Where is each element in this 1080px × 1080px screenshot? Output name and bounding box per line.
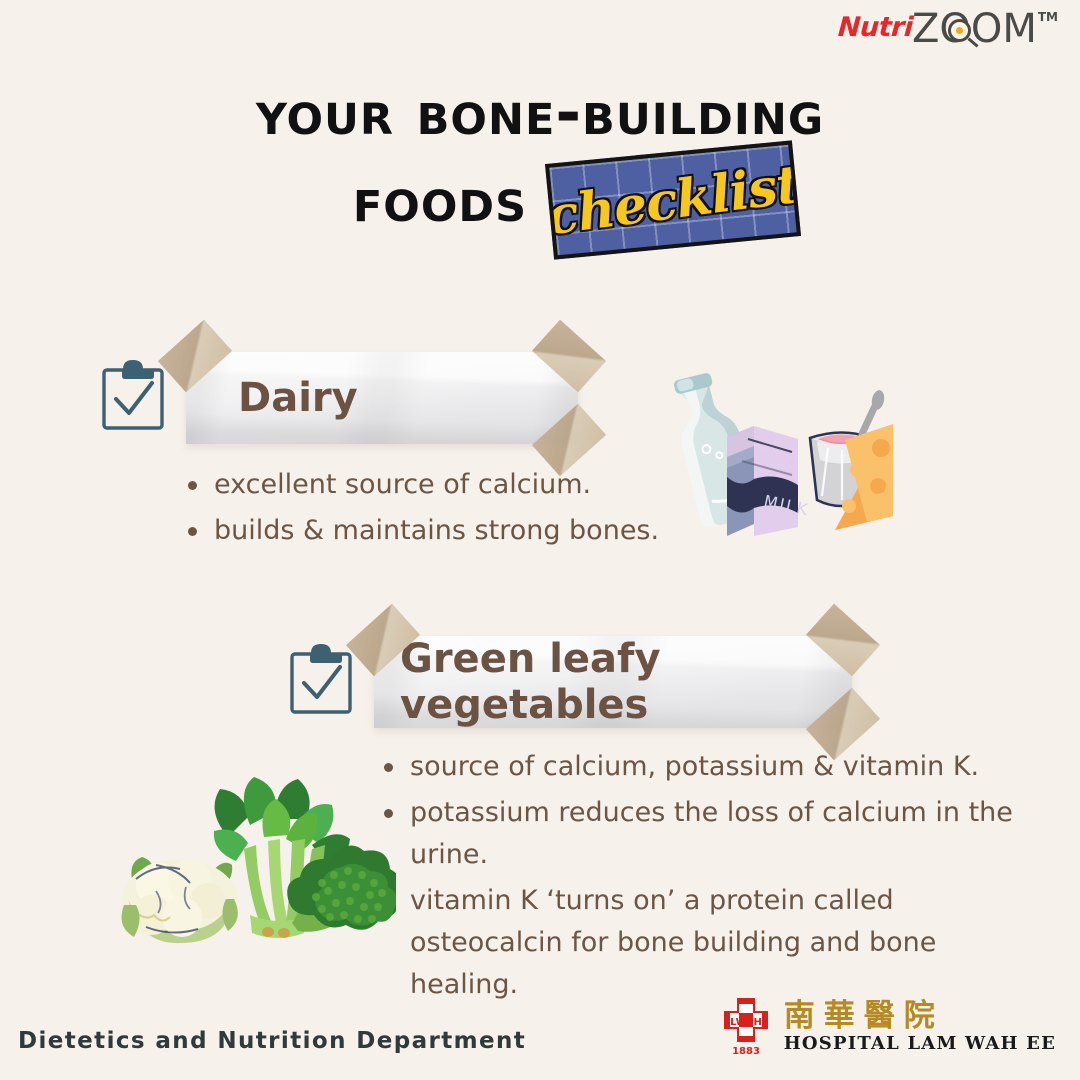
dairy-banner: Dairy <box>186 352 578 444</box>
hospital-name-english: HOSPITAL LAM WAH EE <box>784 1033 1056 1055</box>
cauliflower <box>122 857 238 943</box>
title-line-2-row: FOODS checklist <box>0 152 1080 248</box>
svg-text:1883: 1883 <box>732 1046 760 1057</box>
dairy-banner-row: Dairy <box>96 352 578 444</box>
svg-text:LWEH: LWEH <box>730 1017 762 1028</box>
section-green-leafy-vegetables: Green leafy vegetables source of calcium… <box>284 636 852 728</box>
list-item: excellent source of calcium. <box>184 464 704 506</box>
hospital-logo: LWEH 1883 南華醫院 HOSPITAL LAM WAH EE <box>720 996 1056 1058</box>
infographic-canvas: Nutri ZOOM TM YOUR BONE-BUILDING FOODS c… <box>0 0 1080 1080</box>
green-vegetables-illustration <box>116 775 396 955</box>
vegetables-heading: Green leafy vegetables <box>400 636 852 728</box>
brand-name-nutri: Nutri <box>837 8 915 48</box>
brand-logo: Nutri ZOOM TM <box>838 8 1058 54</box>
vegetables-banner: Green leafy vegetables <box>374 636 852 728</box>
dairy-heading: Dairy <box>238 375 358 421</box>
dairy-foods-illustration: MILK <box>650 360 900 545</box>
red-cross-icon: LWEH 1883 <box>720 996 772 1058</box>
hospital-name-chinese: 南華醫院 <box>784 999 1056 1033</box>
dairy-bullet-list: excellent source of calcium. builds & ma… <box>184 464 704 556</box>
trademark-symbol: TM <box>1038 10 1058 24</box>
section-dairy: Dairy excellent source of calcium. build… <box>96 352 578 444</box>
vegetables-banner-row: Green leafy vegetables <box>284 636 852 728</box>
clipboard-check-icon <box>284 640 362 724</box>
page-title: YOUR BONE-BUILDING FOODS checklist <box>0 76 1080 248</box>
magnifier-icon <box>948 19 971 42</box>
footer-department: Dietetics and Nutrition Department <box>18 1028 526 1054</box>
list-item: builds & maintains strong bones. <box>184 510 704 552</box>
vegetables-bullet-list: source of calcium, potassium & vitamin K… <box>380 746 1040 1010</box>
hospital-name-block: 南華醫院 HOSPITAL LAM WAH EE <box>784 999 1056 1055</box>
tape-top-right <box>532 320 606 393</box>
list-item: source of calcium, potassium & vitamin K… <box>380 746 1040 788</box>
title-line-2: FOODS <box>353 163 527 237</box>
clipboard-check-icon <box>96 356 174 440</box>
list-item: potassium reduces the loss of calcium in… <box>380 792 1040 876</box>
list-item: vitamin K ‘turns on’ a protein called os… <box>380 880 1040 1006</box>
milk-carton: MILK <box>727 426 811 536</box>
brand-name-zoom: ZOOM <box>912 8 1037 50</box>
title-line-1: YOUR BONE-BUILDING <box>0 76 1080 150</box>
checklist-badge: checklist <box>545 140 801 259</box>
